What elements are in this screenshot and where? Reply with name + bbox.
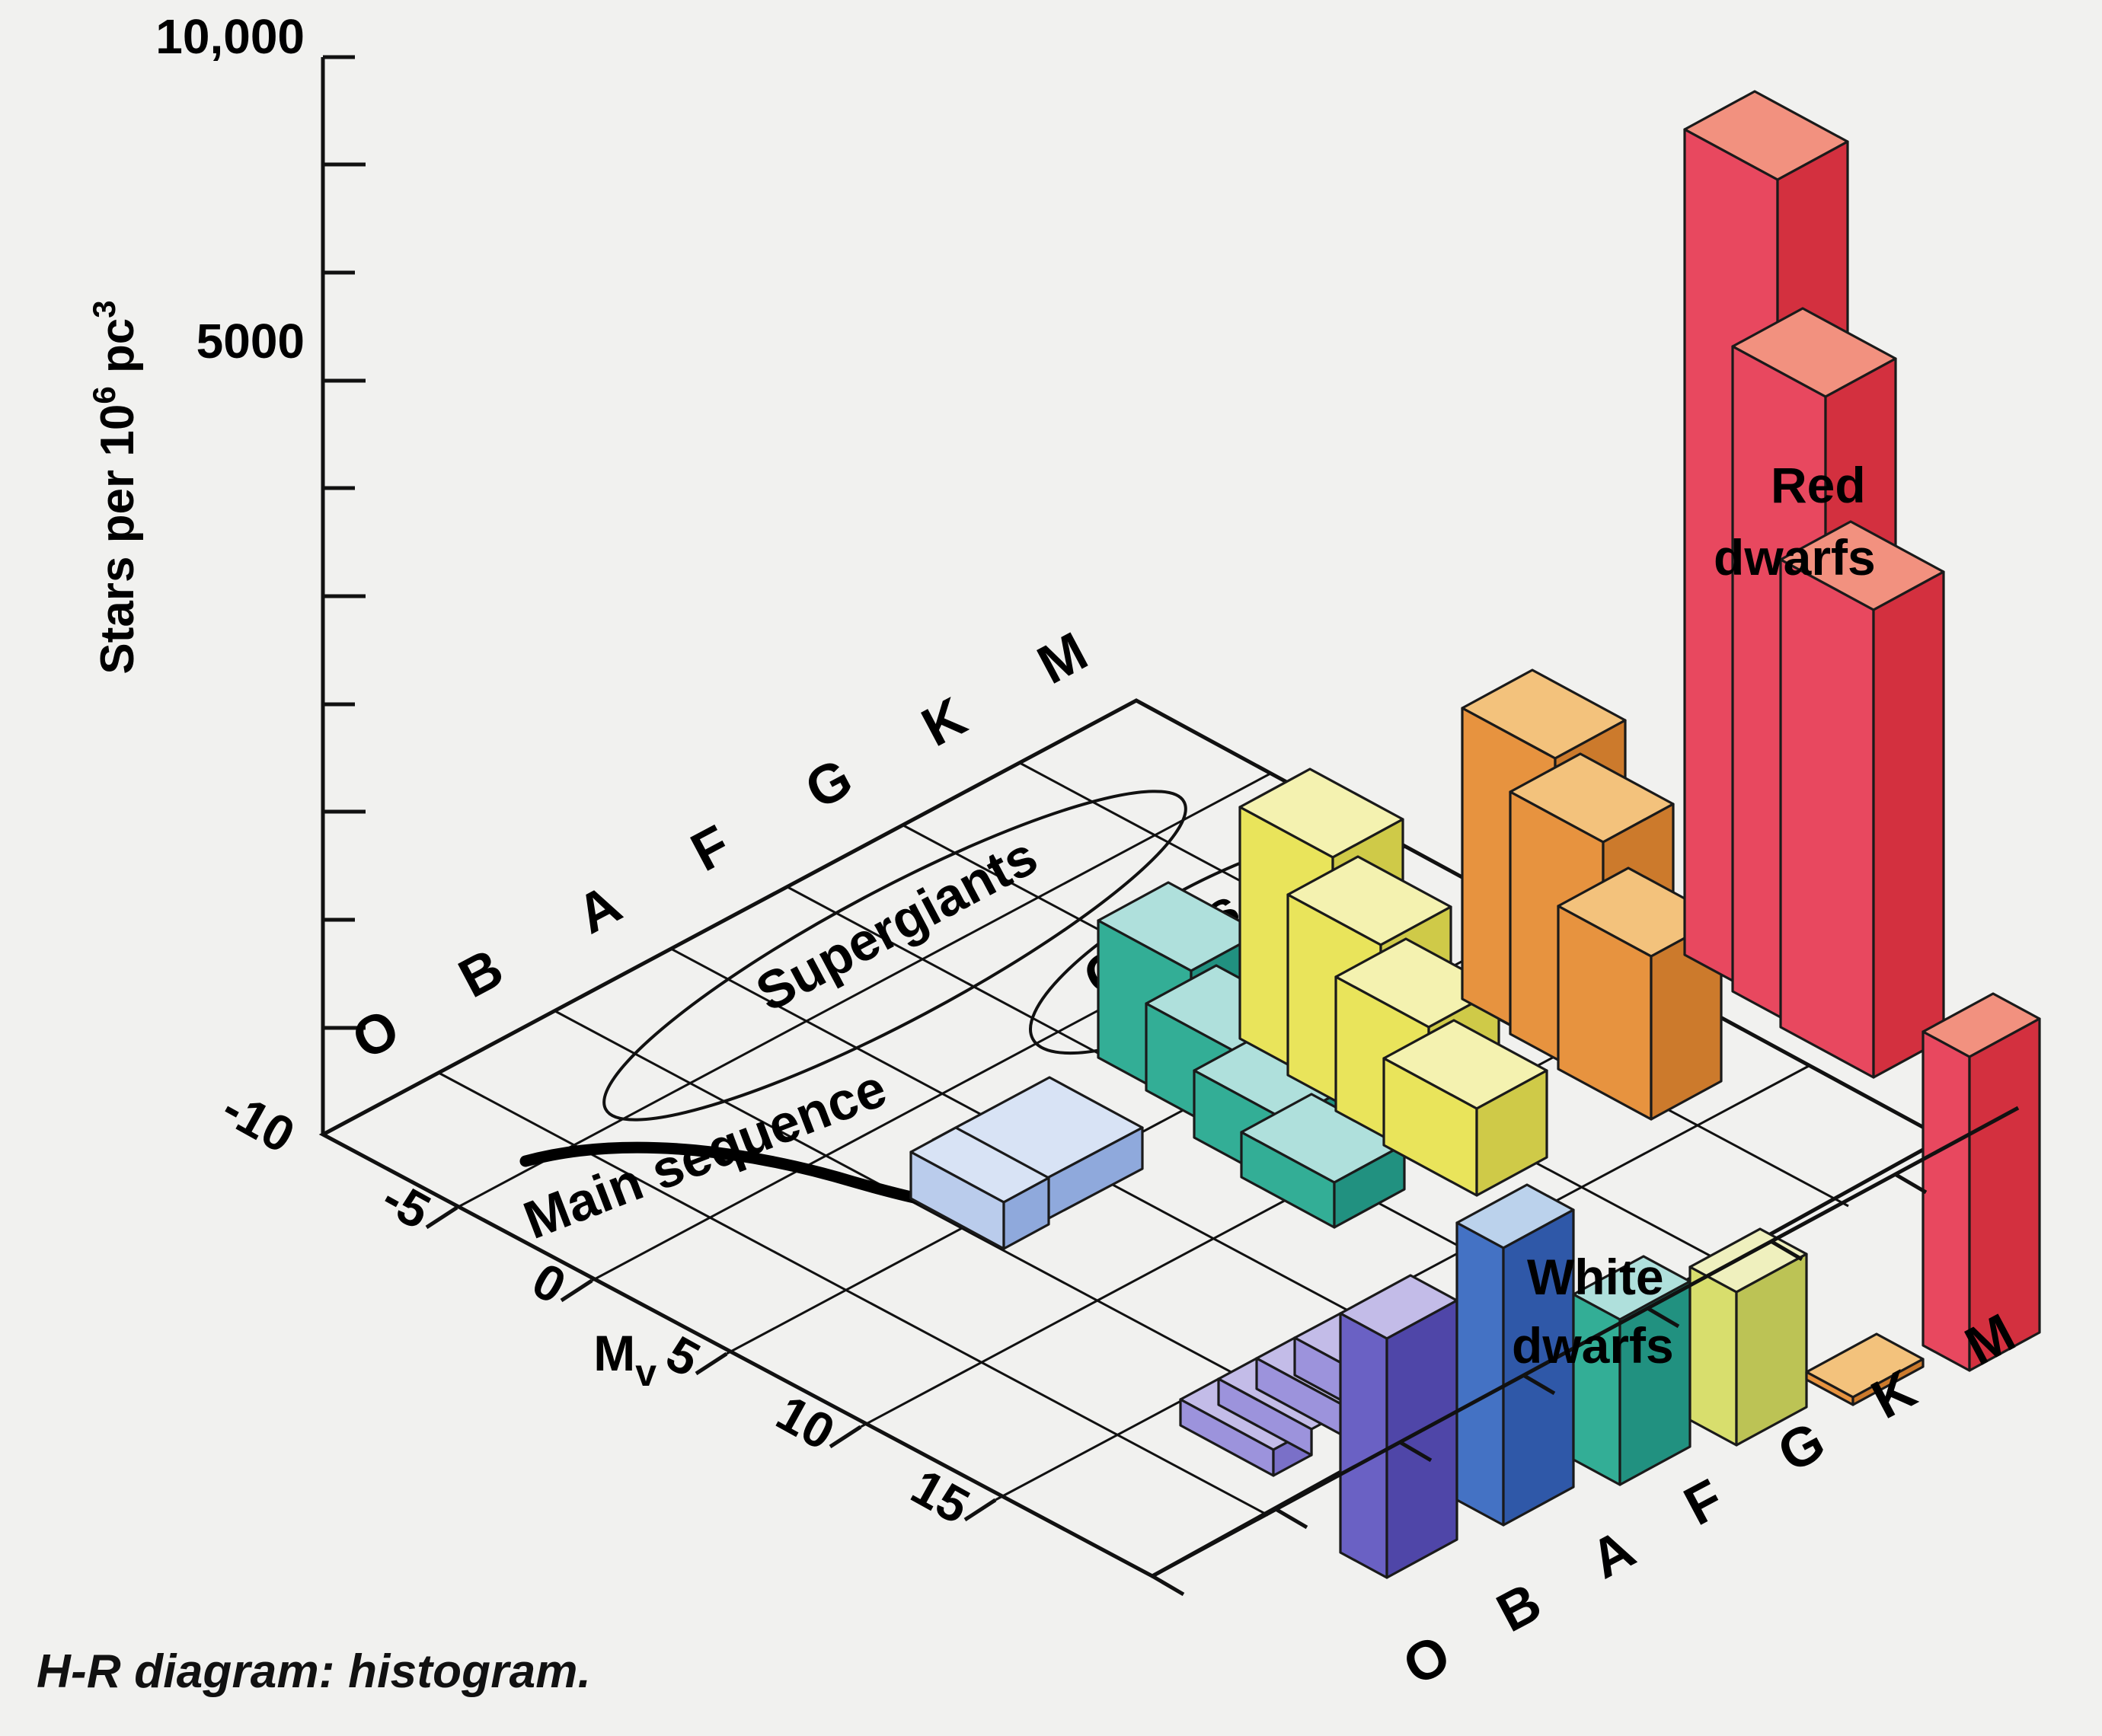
bar-group-B-supergiant: [911, 1077, 1142, 1249]
vaxis-title-unit: pc: [91, 318, 144, 387]
vertical-axis-ticks: [323, 57, 366, 1028]
hr-diagram-histogram: 10,000 5000 Stars per 106 pc3: [0, 0, 2102, 1736]
red-dwarfs-label-line1: Red: [1771, 457, 1866, 513]
vertical-axis-title: Stars per 106 pc3: [86, 300, 144, 674]
white-dwarfs-label-line2: dwarfs: [1512, 1317, 1674, 1374]
vaxis-title-exp: 6: [86, 386, 122, 404]
svg-text:Mv: Mv: [593, 1325, 656, 1394]
spectral-label-back-G: G: [796, 747, 862, 821]
figure-caption: H-R diagram: histogram.: [37, 1645, 591, 1699]
mv-tick--10: -10: [213, 1079, 304, 1163]
spectral-label-front-A: A: [1581, 1518, 1644, 1591]
spectral-label-back-F: F: [682, 814, 740, 883]
vaxis-title-prefix: Stars per 10: [91, 404, 144, 675]
spectral-label-back-O: O: [343, 997, 409, 1071]
supergiants-label: Supergiants: [746, 825, 1046, 1023]
mv-tick--5: -5: [373, 1169, 439, 1240]
svg-text:Stars per 106 pc3: Stars per 106 pc3: [86, 300, 144, 674]
mv-tick-0: 0: [523, 1252, 575, 1315]
mv-tick-5: 5: [657, 1325, 709, 1388]
spectral-label-front-B: B: [1487, 1572, 1551, 1644]
spectral-label-back-B: B: [449, 937, 513, 1010]
magnitude-axis-ticks: [426, 1208, 995, 1520]
spectral-label-back-A: A: [567, 873, 631, 946]
mv-tick-15: 15: [902, 1458, 979, 1534]
spectral-label-front-O: O: [1394, 1623, 1460, 1697]
white-dwarfs-label-line1: White: [1527, 1249, 1664, 1305]
spectral-label-front-F: F: [1675, 1468, 1733, 1537]
magnitude-axis-title: Mv: [593, 1325, 656, 1394]
vaxis-title-unit-exp: 3: [86, 300, 122, 318]
vertical-axis: 10,000 5000 Stars per 106 pc3: [86, 9, 366, 1134]
ytick-label-5000: 5000: [196, 314, 305, 369]
spectral-label-back-M: M: [1028, 621, 1097, 696]
mv-title-subscript: v: [635, 1351, 656, 1394]
ytick-label-10000: 10,000: [155, 9, 305, 64]
red-dwarfs-label-line2: dwarfs: [1714, 529, 1876, 586]
mv-title-symbol: M: [593, 1325, 635, 1381]
spectral-label-back-K: K: [912, 686, 976, 758]
mv-tick-10: 10: [768, 1384, 844, 1460]
